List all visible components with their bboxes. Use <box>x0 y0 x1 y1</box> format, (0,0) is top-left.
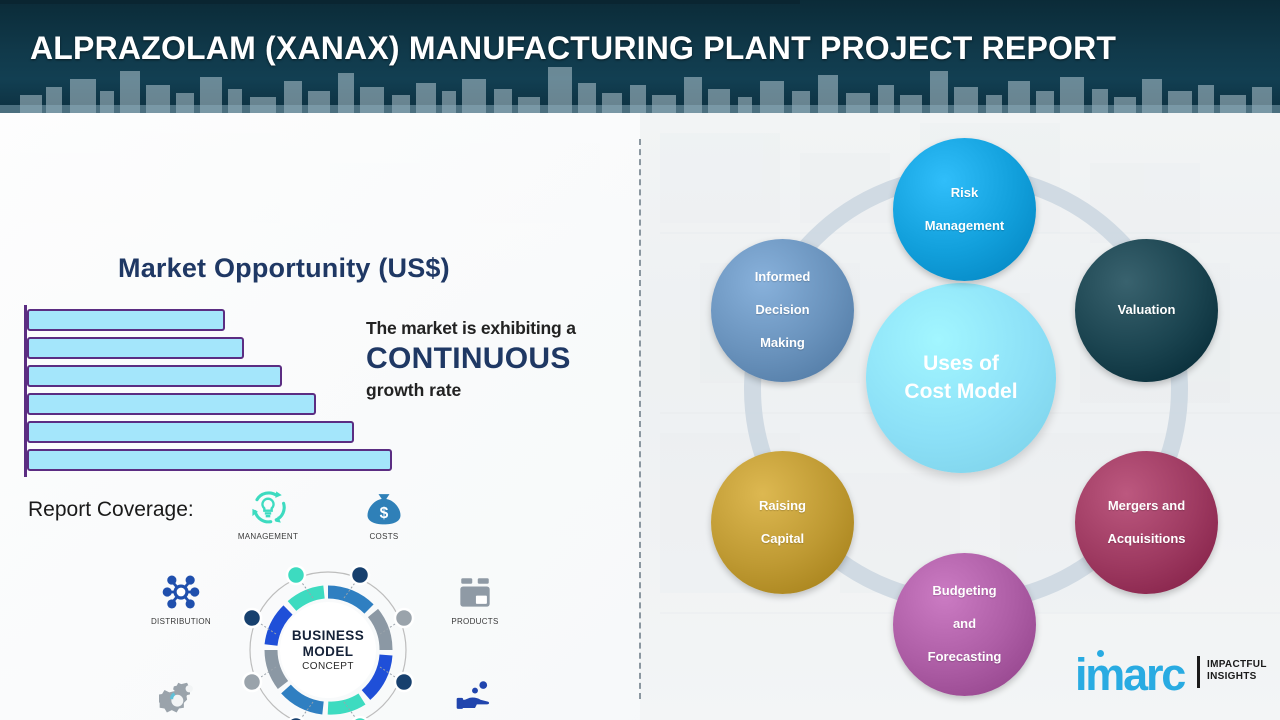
node-budgeting-and-forecasting: Budgeting and Forecasting <box>893 553 1036 696</box>
node-line: Valuation <box>1112 302 1182 319</box>
svg-text:$: $ <box>380 505 389 522</box>
slide-header: ALPRAZOLAM (XANAX) MANUFACTURING PLANT P… <box>0 0 1280 113</box>
chart-bar <box>27 337 244 359</box>
business-model-line-2: MODEL <box>303 644 354 660</box>
coverage-label: PRODUCTS <box>430 617 520 626</box>
node-line: Acquisitions <box>1101 531 1191 548</box>
coverage-label: COSTS <box>338 532 430 541</box>
hand-coins-icon <box>430 675 520 719</box>
node-informed-decision-making: Informed Decision Making <box>711 239 854 382</box>
node-line: and <box>922 616 1008 633</box>
money-bag-icon: $ <box>338 485 430 529</box>
node-risk-management: Risk Management <box>893 138 1036 281</box>
center-node-uses-of-cost-model: Uses of Cost Model <box>866 283 1056 473</box>
center-node-line-1: Uses of <box>904 350 1017 378</box>
box-package-icon <box>430 570 520 614</box>
growth-emphasis: CONTINUOUS <box>366 339 634 379</box>
node-line: Informed <box>749 269 817 286</box>
logo-tagline: IMPACTFUL INSIGHTS <box>1207 659 1267 683</box>
node-line: Decision <box>749 302 817 319</box>
coverage-item-management: MANAGEMENT <box>222 485 314 541</box>
right-panel: Uses of Cost Model Risk Management Valua… <box>640 113 1280 720</box>
network-nodes-icon <box>136 570 226 614</box>
page-title: ALPRAZOLAM (XANAX) MANUFACTURING PLANT P… <box>30 31 1116 65</box>
logo-separator <box>1197 656 1200 688</box>
growth-statement: The market is exhibiting a CONTINUOUS gr… <box>366 317 634 401</box>
coverage-label: MANAGEMENT <box>222 532 314 541</box>
node-line: Making <box>749 335 817 352</box>
coverage-item-revenue: REVENUE <box>430 675 520 720</box>
chart-bar <box>27 393 316 415</box>
node-line: Risk <box>919 185 1010 202</box>
chart-bar <box>27 421 354 443</box>
node-mergers-and-acquisitions: Mergers and Acquisitions <box>1075 451 1218 594</box>
growth-line-1: The market is exhibiting a <box>366 317 634 339</box>
business-model-label: BUSINESS MODEL CONCEPT <box>238 560 418 720</box>
node-line: Capital <box>753 531 812 548</box>
report-coverage-diagram: BUSINESS MODEL CONCEPT <box>130 485 530 720</box>
node-valuation: Valuation <box>1075 239 1218 382</box>
header-title-container: ALPRAZOLAM (XANAX) MANUFACTURING PLANT P… <box>0 0 1280 113</box>
node-line: Raising <box>753 498 812 515</box>
logo-wordmark: imarc <box>1075 652 1184 697</box>
gears-icon <box>136 675 226 719</box>
logo-tagline-line-1: IMPACTFUL <box>1207 659 1267 671</box>
node-line: Management <box>919 218 1010 235</box>
logo-tagline-line-2: INSIGHTS <box>1207 671 1267 683</box>
market-opportunity-title: Market Opportunity (US$) <box>118 253 450 284</box>
chart-bar <box>27 365 282 387</box>
market-opportunity-bar-chart <box>24 305 404 477</box>
node-line: Budgeting <box>922 583 1008 600</box>
chart-bar <box>27 449 392 471</box>
coverage-label: DISTRIBUTION <box>136 617 226 626</box>
business-model-wheel: BUSINESS MODEL CONCEPT <box>238 560 418 720</box>
node-line: Mergers and <box>1101 498 1191 515</box>
business-model-line-1: BUSINESS <box>292 628 364 644</box>
coverage-item-distribution: DISTRIBUTION <box>136 570 226 626</box>
node-raising-capital: Raising Capital <box>711 451 854 594</box>
business-model-line-3: CONCEPT <box>302 661 354 672</box>
coverage-item-costs: $ COSTS <box>338 485 430 541</box>
coverage-item-products: PRODUCTS <box>430 570 520 626</box>
center-node-line-2: Cost Model <box>904 378 1017 406</box>
imarc-logo: imarc IMPACTFUL INSIGHTS <box>1075 648 1265 700</box>
chart-bar <box>27 309 225 331</box>
slide-body: Market Opportunity (US$) The market is e… <box>0 113 1280 720</box>
node-line: Forecasting <box>922 649 1008 666</box>
growth-line-3: growth rate <box>366 379 634 401</box>
recycle-lightbulb-icon <box>222 485 314 529</box>
slide-root: ALPRAZOLAM (XANAX) MANUFACTURING PLANT P… <box>0 0 1280 720</box>
coverage-item-services: SERVICES <box>136 675 226 720</box>
